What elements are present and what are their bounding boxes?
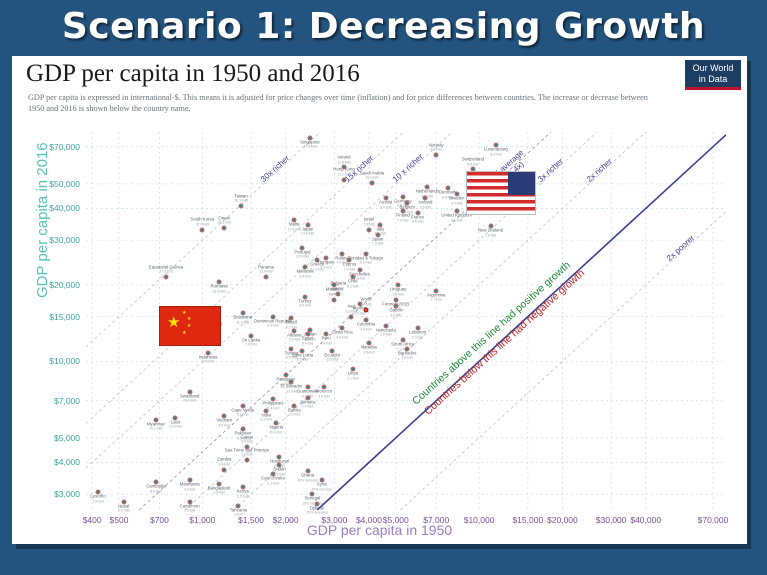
chart-subtitle: GDP per capita is expressed in internati… [28, 92, 658, 114]
data-point[interactable]: Cambodia8.0-fold [153, 480, 158, 485]
growth-value: 2.4-fold [300, 405, 316, 410]
country-name: Costa Rica [332, 330, 353, 335]
data-point-label: Chile6.1-fold [347, 279, 358, 288]
data-point-label: Taiwan30.3-fold [234, 194, 247, 203]
data-point[interactable]: Paraguay4.0-fold [283, 373, 288, 378]
data-point[interactable]: India6.2-fold [264, 408, 269, 413]
country-name: Panama [258, 264, 274, 269]
data-point[interactable]: Iceland7.6-fold [423, 195, 428, 200]
china-flag-star-big: ★ [167, 315, 180, 330]
growth-value: 3.4-fold [208, 491, 231, 496]
growth-value: 10.3-fold [360, 176, 384, 181]
growth-value: 16.3-fold [210, 289, 227, 294]
data-point[interactable]: Cameroon2.5-fold [187, 499, 192, 504]
country-name: Switzerland [462, 157, 484, 162]
data-point[interactable]: Taiwan30.3-fold [239, 203, 244, 208]
growth-value: 2.1-fold [261, 481, 285, 486]
data-point-label: Venezuela2.6-fold [376, 328, 396, 337]
data-point[interactable]: World4.4-fold [363, 307, 368, 312]
data-point[interactable]: Iran6.0-fold [332, 297, 337, 302]
chart-title: GDP per capita in 1950 and 2016 [26, 60, 360, 88]
data-point[interactable]: Sudan3.1-fold [277, 463, 282, 468]
data-point[interactable]: Namibia2.9-fold [366, 341, 371, 346]
data-point[interactable]: Lesotho7.9-fold [96, 490, 101, 495]
data-point[interactable]: Jamaica2.4-fold [305, 395, 310, 400]
data-point-label: Bangladesh3.4-fold [208, 486, 231, 495]
data-point-label: Vietnam5.9-fold [216, 418, 232, 427]
data-point[interactable]: Colombia4.3-fold [363, 318, 368, 323]
data-point[interactable]: Former USSR4.3-fold [393, 297, 398, 302]
data-point[interactable]: Finland7.4-fold [400, 209, 405, 214]
y-axis-tick: $70,000 [49, 142, 80, 152]
data-point[interactable]: Lebanon2.3-fold [415, 326, 420, 331]
data-point-dot[interactable] [341, 177, 346, 182]
data-point[interactable]: Hungary9.7-fold [324, 256, 329, 261]
data-point-label: Namibia2.9-fold [361, 346, 377, 355]
data-point[interactable]: Singapore27.5-fold [308, 135, 313, 140]
growth-value: 10.0-fold [169, 425, 182, 430]
country-name: Dominican Republic [254, 318, 292, 323]
data-point[interactable]: Tanzania2-fold [236, 503, 241, 508]
growth-value: 2.6-fold [376, 333, 396, 338]
data-point[interactable]: Israel7.6-fold [366, 227, 371, 232]
growth-value: 6.1-fold [330, 286, 346, 291]
data-point-label: Saint Lucia5.5-fold [292, 353, 313, 362]
data-point[interactable]: Nepal8.5-fold [121, 499, 126, 504]
country-name: Barbados [398, 350, 416, 355]
data-point-label: Austria9.4-fold [379, 200, 392, 209]
data-point-label: Cote d'Ivoire2.1-fold [261, 477, 285, 486]
growth-value: 8.8-fold [429, 148, 444, 153]
data-point-label: Sao Tome and Principe3.0-fold [225, 448, 269, 457]
data-point[interactable]: Sao Tome and Principe3.0-fold [244, 457, 249, 462]
scatter-plot: $70,000$50,000$40,000$30,000$20,000$15,0… [86, 132, 726, 510]
data-point[interactable]: Morocco3.5-fold [321, 385, 326, 390]
growth-value: 5.2-fold [484, 152, 508, 157]
y-axis-tick: $3,000 [54, 489, 80, 499]
data-point[interactable]: Laos10.0-fold [173, 415, 178, 420]
data-point[interactable]: Barbados2.2-fold [405, 346, 410, 351]
country-name: Nigeria [269, 425, 283, 430]
data-point[interactable]: Vietnam5.9-fold [222, 413, 227, 418]
growth-value: 6.2-fold [260, 418, 271, 423]
growth-value: 8.8-fold [349, 261, 384, 266]
data-point-label: Djibouti15% decrease [306, 506, 328, 515]
country-name: Uruguay [390, 286, 406, 291]
data-point[interactable]: Cote d'Ivoire2.1-fold [270, 472, 275, 477]
data-point-label: World4.4-fold [360, 298, 371, 307]
data-point[interactable]: Germany8.0-fold [400, 194, 405, 199]
china-flag-star-4: ★ [182, 331, 186, 336]
data-point[interactable]: Saint Lucia5.5-fold [300, 348, 305, 353]
country-name: Senegal [305, 496, 321, 501]
data-point-label: Saudi Arabia10.3-fold [360, 171, 384, 180]
growth-value: 2.5-fold [180, 509, 200, 514]
country-name: Spain [372, 236, 383, 241]
growth-value: 17.6-fold [288, 227, 301, 232]
data-point[interactable]: Italy6.5-fold [378, 222, 383, 227]
growth-value: 9.7-fold [318, 265, 334, 270]
country-name: Mauritania [180, 482, 200, 487]
data-point[interactable]: Pakistan4.3-fold [240, 427, 245, 432]
y-axis-tick: $15,000 [49, 312, 80, 322]
country-name: Botswana [233, 315, 252, 320]
data-point-label: Ireland11.8-fold [337, 156, 350, 165]
growth-value: 11.8-fold [337, 160, 350, 165]
country-name: Romania [210, 284, 227, 289]
y-axis-tick: $7,000 [54, 396, 80, 406]
country-name: Trinidad & Tobago [349, 255, 384, 260]
growth-value: 8.5-fold [118, 509, 129, 514]
country-name: Zambia [217, 457, 231, 462]
data-point[interactable]: Hong Kong11.1-fold [341, 177, 346, 182]
growth-value: 3.9-fold [389, 313, 402, 318]
country-name: Cape Verde [231, 407, 254, 412]
data-point-label: Botswana11.2-fold [233, 316, 252, 325]
country-name: Jamaica [300, 399, 316, 404]
data-point-label: Barbados2.2-fold [398, 351, 416, 360]
country-name: Myanmar [147, 421, 165, 426]
data-point-dot[interactable] [222, 467, 227, 472]
country-name: Tanzania [230, 507, 247, 512]
country-name: Iraq [347, 304, 354, 309]
data-point-label: Norway8.8-fold [429, 143, 444, 152]
growth-value: 2-fold [230, 513, 247, 518]
data-point-dot[interactable] [434, 152, 439, 157]
data-point[interactable]: Malaysia9.9-fold [303, 265, 308, 270]
data-point-dot[interactable] [264, 274, 269, 279]
data-point[interactable]: Ecuador3.6-fold [330, 348, 335, 353]
y-axis-tick: $5,000 [54, 433, 80, 443]
data-point[interactable]: Venezuela2.6-fold [383, 323, 388, 328]
country-name: Laos [171, 419, 180, 424]
chart-card: GDP per capita in 1950 and 2016 GDP per … [12, 56, 747, 544]
data-point-label: Lesotho7.9-fold [90, 495, 105, 504]
data-point-label: Panama12.4-fold [258, 265, 274, 274]
data-point-dot[interactable] [341, 165, 346, 170]
data-point-dot[interactable] [349, 314, 354, 319]
data-point-label: Myanmar10.1-fold [147, 422, 165, 431]
country-name: Italy [376, 226, 384, 231]
country-name: Lesotho [90, 494, 105, 499]
data-point[interactable]: Peru4.4-fold [324, 332, 329, 337]
data-point[interactable]: Netherlands6.9-fold [425, 185, 430, 190]
data-point[interactable]: Oman28.3-fold [222, 226, 227, 231]
data-point-dot[interactable] [369, 180, 374, 185]
data-point[interactable]: New Zealand2.6-fold [488, 224, 493, 229]
growth-value: 5.4-fold [449, 201, 465, 206]
data-point[interactable]: Spain7.3-fold [375, 232, 380, 237]
data-point-label: Turkey8.8-fold [299, 299, 312, 308]
data-point-label: Zambia3.4-fold [217, 458, 231, 467]
data-point[interactable]: Sri Lanka7.6-fold [249, 333, 254, 338]
data-point[interactable]: Argentina2.7-fold [434, 288, 439, 293]
data-point[interactable]: Saudi Arabia10.3-fold [369, 180, 374, 185]
data-point-dot[interactable] [164, 274, 169, 279]
growth-value: 15% decrease [306, 511, 328, 516]
data-point[interactable]: Trinidad & Tobago8.8-fold [363, 251, 368, 256]
data-point-label: Malaysia9.9-fold [297, 270, 314, 279]
data-point[interactable]: Sweden5.4-fold [454, 192, 459, 197]
data-point[interactable]: United Kingdom4.1-fold [454, 209, 459, 214]
data-point[interactable]: Turkey8.8-fold [303, 294, 308, 299]
data-point-label: Lebanon2.3-fold [409, 331, 426, 340]
data-point-dot[interactable] [200, 227, 205, 232]
country-name: Japan [302, 226, 314, 231]
data-point[interactable]: Myanmar10.1-fold [153, 417, 158, 422]
data-point[interactable]: Portugal12.9-fold [300, 245, 305, 250]
growth-value: 28.3-fold [218, 221, 231, 226]
data-point[interactable]: Poland7.0-fold [340, 251, 345, 256]
china-flag-star-3: ★ [187, 324, 191, 329]
data-point[interactable]: Djibouti15% decrease [315, 501, 320, 506]
data-point-label: New Zealand2.6-fold [478, 229, 503, 238]
country-name: Portugal [294, 249, 310, 254]
data-point[interactable]: Nigeria3.0-fold [274, 421, 279, 426]
growth-value: 30.3-fold [234, 199, 247, 204]
country-name: Peru [322, 336, 331, 341]
y-axis-tick: $10,000 [49, 356, 80, 366]
country-name: Indonesia [199, 354, 218, 359]
growth-value: 3.5-fold [316, 394, 332, 399]
data-point[interactable]: Uruguay3.8-fold [396, 282, 401, 287]
growth-value: 9.9-fold [199, 360, 218, 365]
data-point-label: Morocco3.5-fold [316, 390, 332, 399]
data-point-label: Swaziland20.4-fold [180, 394, 200, 403]
country-name: Saudi Arabia [360, 170, 384, 175]
data-point[interactable]: Denmark6.0-fold [445, 186, 450, 191]
growth-value: 2.7-fold [427, 298, 445, 303]
growth-value: 3.4-fold [217, 463, 231, 468]
growth-value: 6.6-fold [411, 220, 424, 225]
data-point[interactable]: Libya2.1-fold [350, 367, 355, 372]
country-name: Luxembourg [484, 147, 508, 152]
growth-value: 2.9-fold [361, 350, 377, 355]
data-point[interactable]: Botswana11.2-fold [240, 311, 245, 316]
country-name: Austria [379, 199, 392, 204]
country-name: Argentina [427, 292, 445, 297]
data-point[interactable]: Cape Verde5.1-fold [240, 403, 245, 408]
data-point-label: Ecuador3.6-fold [324, 353, 340, 362]
y-axis-label: GDP per capita in 2016 [34, 142, 51, 298]
growth-value: 3.0-fold [288, 413, 301, 418]
data-point[interactable]: Japan14.5-fold [305, 222, 310, 227]
slide: Scenario 1: Decreasing Growth GDP per ca… [0, 0, 767, 575]
country-name: Equatorial Guinea [149, 264, 183, 269]
data-point[interactable]: Iraq3.3-fold [349, 314, 354, 319]
growth-value: 7.9-fold [90, 499, 105, 504]
data-point[interactable]: Bangladesh3.4-fold [217, 481, 222, 486]
growth-value: 11.2-fold [233, 320, 252, 325]
data-point-label: Albania5.5-fold [287, 333, 301, 342]
country-name: Lebanon [409, 330, 426, 335]
country-name: Kenya [237, 489, 249, 494]
country-name: Malaysia [297, 269, 314, 274]
country-name: Turkey [299, 298, 312, 303]
country-name: Norway [429, 142, 444, 147]
data-point[interactable]: Egypt5.4-fold [305, 332, 310, 337]
data-point[interactable]: Panama12.4-fold [264, 274, 269, 279]
data-point-dot[interactable] [222, 226, 227, 231]
growth-value: 3.6-fold [324, 358, 340, 363]
country-name: Iceland [419, 199, 433, 204]
data-point-label: Egypt5.4-fold [302, 337, 313, 346]
growth-value: 4.3-fold [357, 328, 375, 333]
data-point[interactable]: Equatorial Guinea27.9-fold [164, 274, 169, 279]
our-world-in-data-logo[interactable]: Our World in Data [685, 60, 741, 90]
logo-line-1: Our World [693, 63, 734, 73]
data-point[interactable]: Philippines3.4-fold [270, 397, 275, 402]
data-point[interactable]: Gabon3.9-fold [393, 304, 398, 309]
data-point-label: Cameroon2.5-fold [180, 504, 200, 513]
data-point-label: Nepal8.5-fold [118, 504, 129, 513]
growth-value: 3.3-fold [346, 310, 357, 315]
data-point[interactable]: Costa Rica4.9-fold [340, 326, 345, 331]
data-point-label: Israel7.6-fold [363, 218, 374, 227]
country-name: Venezuela [376, 327, 396, 332]
data-point-dot[interactable] [363, 307, 368, 312]
growth-value: 7.6-fold [419, 205, 433, 210]
country-name: Congo [241, 434, 254, 439]
data-point[interactable]: Seychelles7.5-fold [357, 267, 362, 272]
growth-value: 2.1-fold [347, 376, 358, 381]
country-name: New Zealand [478, 228, 503, 233]
data-point[interactable]: Albania5.5-fold [292, 328, 297, 333]
growth-value: 2.3-fold [409, 335, 426, 340]
data-point[interactable]: Guatemala3.4-fold [305, 385, 310, 390]
data-point-label: Laos10.0-fold [169, 420, 182, 429]
data-point[interactable]: France6.6-fold [415, 210, 420, 215]
data-point[interactable]: Ireland11.8-fold [341, 165, 346, 170]
data-point[interactable]: Bulgaria6.1-fold [336, 291, 341, 296]
country-name: Chile [348, 278, 358, 283]
data-point-dot[interactable] [239, 203, 244, 208]
country-name: Djibouti [310, 505, 324, 510]
data-point[interactable]: Ghana40% increase [305, 469, 310, 474]
growth-value: 27.9-fold [149, 270, 183, 275]
country-name: Israel [364, 217, 375, 222]
country-name: Nepal [118, 503, 129, 508]
growth-value: 7.6-fold [242, 343, 260, 348]
data-point[interactable]: Austria9.4-fold [383, 195, 388, 200]
data-point-label: Sweden5.4-fold [449, 197, 465, 206]
data-point-label: Finland7.4-fold [396, 214, 410, 223]
growth-value: 12.9-fold [294, 255, 310, 260]
growth-value: 10.1-fold [147, 427, 165, 432]
china-flag-star-2: ★ [187, 317, 191, 322]
growth-value: 32.0-fold [190, 223, 214, 228]
growth-value: 14.5-fold [301, 232, 314, 237]
country-name: Singapore [300, 139, 320, 144]
y-axis-tick: $40,000 [49, 203, 80, 213]
country-name: Namibia [361, 345, 377, 350]
growth-value: 11.1-fold [333, 172, 355, 177]
growth-value: 4.9-fold [332, 335, 353, 340]
country-name: Hungary [318, 260, 334, 265]
data-point-label: Cambodia8.0-fold [146, 485, 166, 494]
data-point[interactable]: South Korea32.0-fold [200, 227, 205, 232]
country-name: Bolivia [288, 407, 301, 412]
country-name: India [261, 412, 270, 417]
data-point[interactable]: Mauritania4.3-fold [187, 478, 192, 483]
country-name: Oman [218, 215, 230, 220]
data-point[interactable]: Syria40% increase [319, 478, 324, 483]
data-point-label: Gabon3.9-fold [389, 309, 402, 318]
data-point[interactable]: Tunisia5.5-fold [289, 346, 294, 351]
data-point-label: Equatorial Guinea27.9-fold [149, 265, 183, 274]
data-point[interactable]: Honduras2.4-fold [277, 455, 282, 460]
data-point[interactable]: Swaziland20.4-fold [187, 389, 192, 394]
country-name: Morocco [316, 389, 332, 394]
data-point-dot[interactable] [336, 291, 341, 296]
y-axis-tick: $20,000 [49, 280, 80, 290]
data-point-dot[interactable] [332, 297, 337, 302]
growth-value: 3.0-fold [225, 453, 269, 458]
country-name: Sweden [449, 196, 465, 201]
country-name: Cambodia [146, 484, 166, 489]
growth-value: 27.5-fold [300, 145, 320, 150]
data-point-dot[interactable] [244, 457, 249, 462]
country-name: South Africa [391, 342, 414, 347]
data-point-label: Uruguay3.8-fold [390, 287, 406, 296]
growth-value: 4.4-fold [360, 302, 371, 307]
data-point-label: Bulgaria6.1-fold [330, 282, 346, 291]
country-name: South Korea [190, 217, 214, 222]
data-point[interactable]: Kenya2.5-fold [240, 485, 245, 490]
data-point[interactable]: Belgium7.7-fold [405, 201, 410, 206]
data-point[interactable]: Malta17.6-fold [292, 218, 297, 223]
growth-value: 3.0-fold [269, 431, 283, 436]
data-point-label: Paraguay4.0-fold [276, 378, 294, 387]
growth-value: 5.5-fold [292, 358, 313, 363]
data-point[interactable]: Bolivia3.0-fold [292, 403, 297, 408]
country-name: France [411, 214, 424, 219]
country-name: Gabon [389, 308, 402, 313]
data-point[interactable]: Zambia3.4-fold [222, 467, 227, 472]
data-point[interactable]: Senegal10% increase [310, 492, 315, 497]
data-point-label: Iraq3.3-fold [346, 305, 357, 314]
page-title: Scenario 1: Decreasing Growth [0, 4, 767, 50]
data-point-label: Congo3.6-fold [241, 435, 254, 444]
data-point[interactable]: Indonesia9.9-fold [206, 350, 211, 355]
china-flag-star-1: ★ [182, 311, 186, 316]
data-point[interactable]: Luxembourg5.2-fold [493, 143, 498, 148]
data-point-label: Mauritania4.3-fold [180, 483, 200, 492]
data-point-label: Singapore27.5-fold [300, 140, 320, 149]
growth-value: 12.4-fold [258, 270, 274, 275]
data-point-label: India6.2-fold [260, 413, 271, 422]
growth-value: 2.5-fold [237, 494, 249, 499]
growth-value: 7.6-fold [363, 223, 374, 228]
data-point[interactable]: South Africa2.3-fold [400, 338, 405, 343]
country-name: Libya [348, 371, 358, 376]
country-name: Albania [287, 332, 301, 337]
y-axis-tick: $30,000 [49, 235, 80, 245]
data-point[interactable]: Chile6.1-fold [350, 274, 355, 279]
data-point[interactable]: Norway8.8-fold [434, 152, 439, 157]
country-name: Bulgaria [330, 281, 346, 286]
growth-value: 9.4-fold [379, 205, 392, 210]
data-point-label: Nigeria3.0-fold [269, 426, 283, 435]
data-point-dot[interactable] [366, 227, 371, 232]
growth-value: 4.3-fold [180, 487, 200, 492]
growth-value: 3.6-fold [241, 440, 254, 445]
country-name: Colombia [357, 322, 375, 327]
data-point[interactable]: Dominican Republic8.9-fold [270, 314, 275, 319]
growth-value: 7.3-fold [372, 242, 383, 247]
country-name: Ireland [337, 155, 350, 160]
data-point[interactable]: Romania16.3-fold [217, 280, 222, 285]
